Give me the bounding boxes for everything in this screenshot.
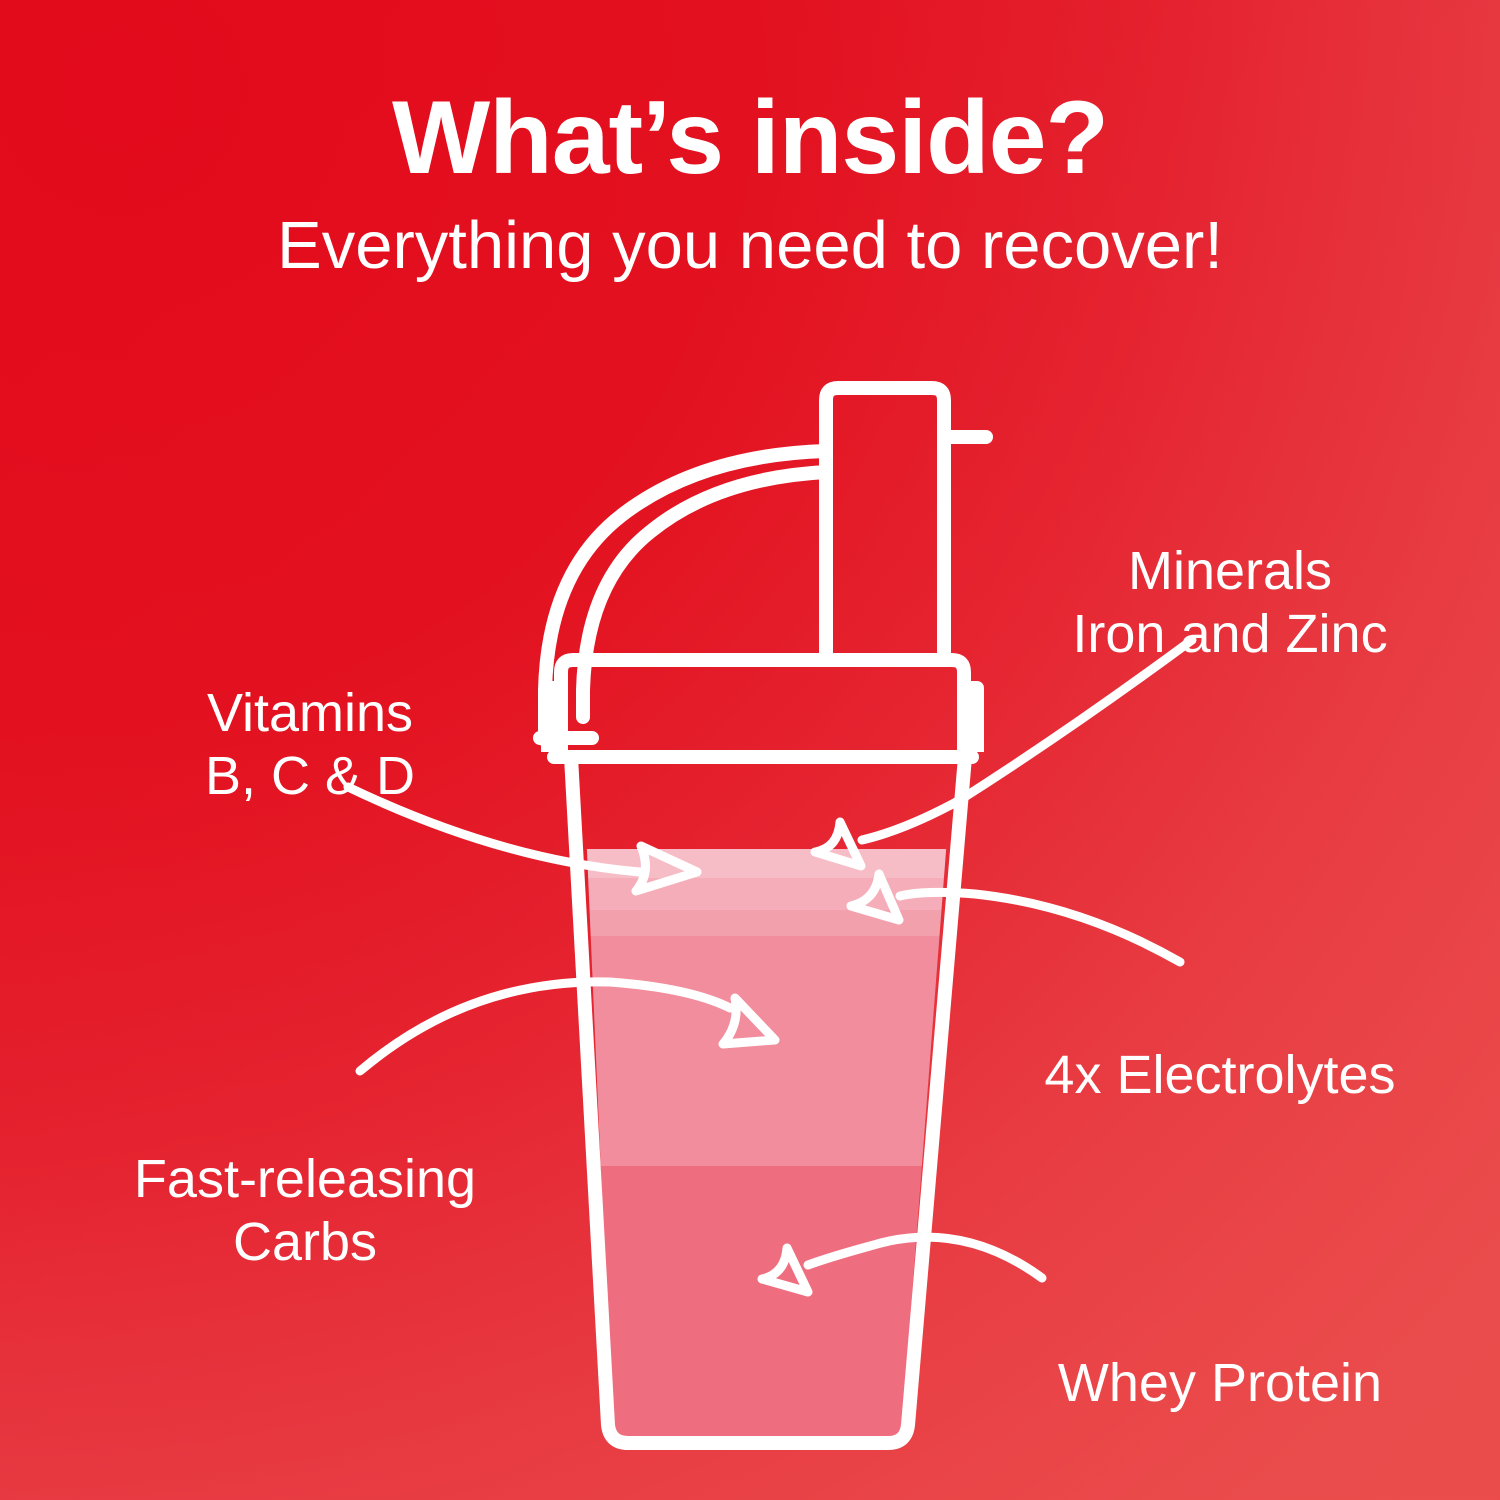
callout-vitamins-line2: B, C & D xyxy=(60,745,560,809)
callout-carbs-line1: Fast-releasing xyxy=(134,1149,476,1209)
callout-label-carbs: Fast-releasing Carbs xyxy=(45,1084,565,1339)
callout-label-minerals: Minerals Iron and Zinc xyxy=(1000,476,1460,731)
callout-whey-line1: Whey Protein xyxy=(1058,1353,1382,1413)
callout-label-whey: Whey Protein xyxy=(1000,1288,1440,1415)
lid-upright-block xyxy=(826,388,944,660)
callout-vitamins-line1: Vitamins xyxy=(207,683,413,743)
callout-minerals-line1: Minerals xyxy=(1128,541,1332,601)
lid-collar xyxy=(561,660,964,755)
liquid-band-3 xyxy=(560,910,980,936)
infographic-canvas: What’s inside? Everything you need to re… xyxy=(0,0,1500,1500)
callout-electrolytes-line1: 4x Electrolytes xyxy=(1044,1045,1395,1105)
callout-carbs-line2: Carbs xyxy=(45,1211,565,1275)
liquid-band-4 xyxy=(560,936,980,1166)
callout-minerals-line2: Iron and Zinc xyxy=(1000,603,1460,667)
callout-label-vitamins: Vitamins B, C & D xyxy=(60,618,560,873)
callout-label-electrolytes: 4x Electrolytes xyxy=(1000,980,1440,1107)
